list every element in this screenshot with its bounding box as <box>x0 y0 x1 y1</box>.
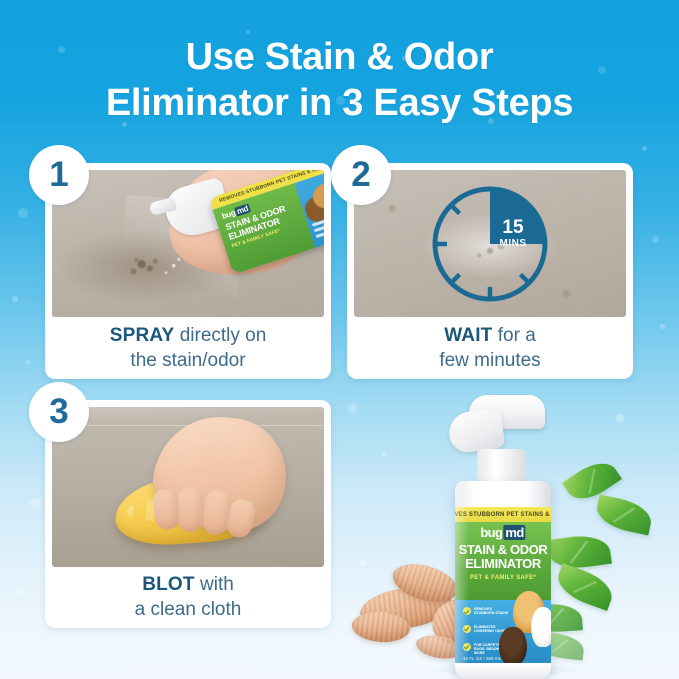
product-tagline: PET & FAMILY SAFE* <box>455 575 551 581</box>
cat-photo <box>531 607 551 647</box>
check-icon <box>463 643 471 651</box>
finger <box>178 488 203 532</box>
step-photo-wait: 15 MINS <box>354 170 626 317</box>
bottle-base-cap <box>455 663 551 679</box>
step-card-2: 2 15 MINS WAIT for a few minutes <box>347 163 633 379</box>
caption-line-2: a clean cloth <box>135 597 242 622</box>
brand-main-text: bug <box>480 525 502 540</box>
step-photo-blot <box>52 407 324 567</box>
product-name-line-1: STAIN & ODOR <box>459 542 548 557</box>
caption-rest-3: with <box>195 574 234 595</box>
step-caption-3: BLOT with a clean cloth <box>53 572 323 622</box>
caption-keyword-1: SPRAY <box>110 325 175 346</box>
step-card-1: 1 REMOVES STUBBORN PET STAINS & ODOR bug… <box>45 163 331 379</box>
check-icon <box>463 625 471 633</box>
product-name: STAIN & ODOR ELIMINATOR <box>455 543 551 571</box>
title-line-2: Eliminator in 3 Easy Steps <box>0 80 679 126</box>
step-number-badge-3: 3 <box>29 382 89 442</box>
leaf-icon <box>553 563 618 611</box>
caption-keyword-3: BLOT <box>142 574 195 595</box>
caption-keyword-2: WAIT <box>444 325 492 346</box>
caption-line-2: the stain/odor <box>130 348 245 373</box>
product-bottle: REMOVES STUBBORN PET STAINS & ODOR bugmd… <box>443 395 561 679</box>
clock-unit-text: MINS <box>500 238 527 249</box>
clock-value-text: 15 <box>502 217 524 238</box>
step-caption-2: WAIT for a few minutes <box>355 323 625 373</box>
clock-icon: 15 MINS <box>429 183 551 305</box>
caption-line-1: WAIT for a <box>444 323 536 348</box>
step-photo-spray: REMOVES STUBBORN PET STAINS & ODOR bugmd… <box>52 170 324 317</box>
caption-rest-2: for a <box>492 325 535 346</box>
step-caption-1: SPRAY directly on the stain/odor <box>53 323 323 373</box>
brand-logo: bugmd <box>480 526 525 539</box>
product-name-line-2: ELIMINATOR <box>465 556 541 571</box>
step-card-3: 3 BLOT with a clean cloth <box>45 400 331 628</box>
step-number-badge-1: 1 <box>29 145 89 205</box>
leaf-icon <box>593 495 654 536</box>
page-title: Use Stain & Odor Eliminator in 3 Easy St… <box>0 34 679 126</box>
caption-line-1: BLOT with <box>142 572 234 597</box>
pet-photos-group <box>493 593 551 667</box>
dachshund-photo <box>499 627 527 665</box>
caption-line-2: few minutes <box>439 348 540 373</box>
trigger-lever <box>446 407 505 454</box>
brand-badge-text: md <box>503 525 525 540</box>
product-banner-strip: REMOVES STUBBORN PET STAINS & ODOR <box>455 507 551 522</box>
step-number-badge-2: 2 <box>331 145 391 205</box>
caption-rest-1: directly on <box>174 325 266 346</box>
product-banner-text: REMOVES STUBBORN PET STAINS & ODOR <box>455 512 551 518</box>
check-icon <box>463 607 471 615</box>
caption-line-1: SPRAY directly on <box>110 323 267 348</box>
infographic-canvas: Use Stain & Odor Eliminator in 3 Easy St… <box>0 0 679 679</box>
title-line-1: Use Stain & Odor <box>0 34 679 80</box>
bottle-body: REMOVES STUBBORN PET STAINS & ODOR bugmd… <box>455 481 551 679</box>
